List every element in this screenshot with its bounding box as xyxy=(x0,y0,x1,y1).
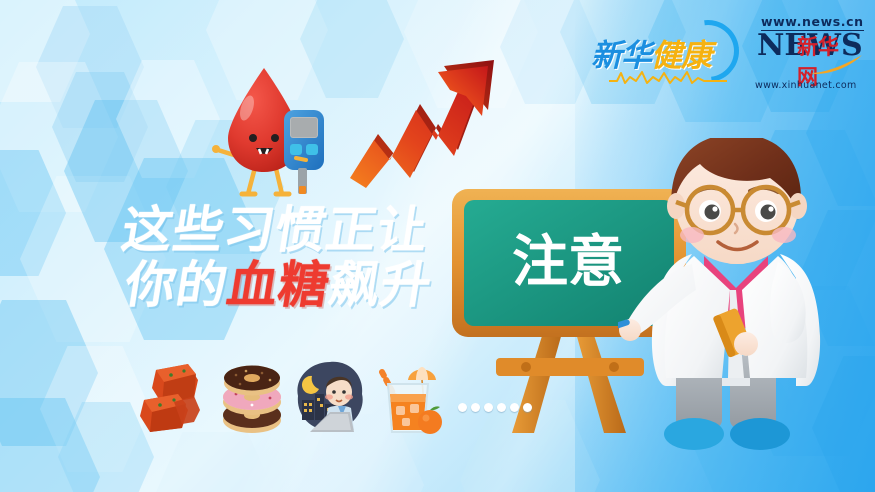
headline-line1-text: 这些习惯正让 xyxy=(118,201,433,259)
late-night-icon xyxy=(294,358,366,438)
news-logo-url-bottom: www.xinhuanet.com xyxy=(755,80,857,91)
xinhua-health-logo: 新华健康 xyxy=(591,16,743,90)
ellipsis-dot xyxy=(523,403,532,412)
ellipsis-dots xyxy=(458,403,532,412)
rising-trend-arrow xyxy=(348,52,502,202)
mascot-arm-right xyxy=(296,158,306,160)
orange-juice-icon xyxy=(372,358,444,438)
braised-pork-icon xyxy=(138,358,210,438)
blood-drop-character xyxy=(212,60,344,202)
ellipsis-dot xyxy=(484,403,493,412)
headline-line2-prefix: 你的 xyxy=(121,256,232,314)
headline-line-1: 这些习惯正让 xyxy=(118,205,444,256)
swoosh-icon xyxy=(811,54,863,74)
board-text: 注意 xyxy=(512,230,624,295)
doctor-eye-left xyxy=(705,205,720,220)
doctor-character xyxy=(618,138,854,458)
ellipsis-dot xyxy=(471,403,480,412)
orange-fruit-icon xyxy=(418,410,442,434)
glucose-meter-icon xyxy=(284,110,324,194)
mascot-eye-left xyxy=(249,134,257,142)
doctor-shoe-left xyxy=(664,418,724,450)
ellipsis-dot xyxy=(458,403,467,412)
headline-line2-suffix: 飙升 xyxy=(325,256,436,314)
ellipsis-dot xyxy=(510,403,519,412)
poster-canvas: 新华健康 www.news.cn NEWS 新华网 www.xinhuanet.… xyxy=(0,0,875,492)
ecg-heartbeat-icon xyxy=(609,68,727,86)
donuts-icon xyxy=(216,358,288,438)
doctor-shoe-right xyxy=(730,418,790,450)
mascot-eye-right xyxy=(271,134,279,142)
headline-line-2: 你的血糖飙升 xyxy=(122,260,436,311)
xinhuanet-logo: www.news.cn NEWS 新华网 www.xinhuanet.com xyxy=(751,14,863,92)
doctor-eye-right xyxy=(761,205,776,220)
headline-line2-highlight: 血糖 xyxy=(223,256,334,314)
ellipsis-dot xyxy=(497,403,506,412)
doctor-hand-right xyxy=(734,332,758,356)
habit-icon-row xyxy=(138,352,478,438)
headline: 这些习惯正让 你的血糖飙升 xyxy=(110,205,445,311)
logo-bar: 新华健康 www.news.cn NEWS 新华网 www.xinhuanet.… xyxy=(591,14,863,92)
